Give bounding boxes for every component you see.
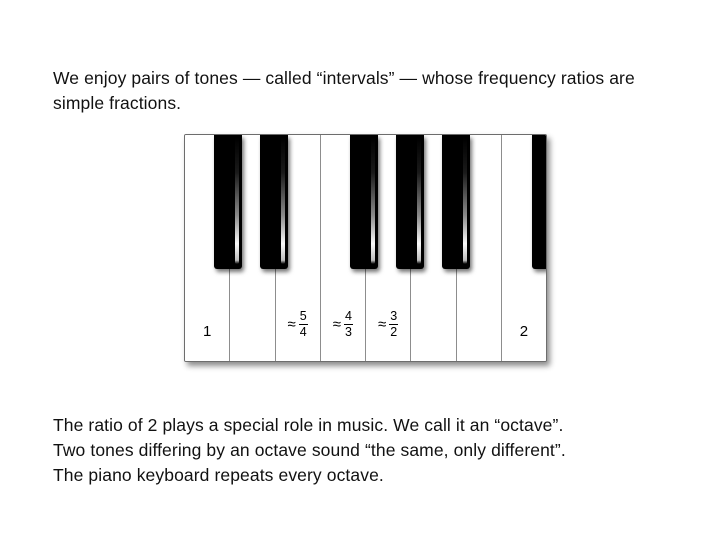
ratio-fraction: 5 4 [299, 310, 308, 339]
white-key-label-text: 2 [520, 324, 528, 339]
black-key[interactable] [442, 135, 470, 269]
black-key[interactable] [350, 135, 378, 269]
outro-paragraph: The ratio of 2 plays a special role in m… [53, 413, 673, 488]
black-key[interactable] [260, 135, 288, 269]
black-key[interactable] [532, 135, 547, 269]
white-key-label-text: 1 [203, 324, 211, 339]
black-key[interactable] [214, 135, 242, 269]
black-key[interactable] [396, 135, 424, 269]
fraction-denominator: 3 [344, 324, 353, 339]
white-key-label: ≈ 3 2 [366, 310, 410, 339]
approximately-equal-sign: ≈ [333, 317, 341, 332]
piano-keyboard-diagram: 1 ≈ 5 4 ≈ [184, 134, 547, 362]
white-key-label: 1 [185, 324, 229, 339]
ratio-fraction: 4 3 [344, 310, 353, 339]
white-key-label: 2 [502, 324, 546, 339]
fraction-numerator: 5 [299, 310, 308, 324]
intro-paragraph: We enjoy pairs of tones — called “interv… [53, 66, 673, 116]
white-key-label: ≈ 5 4 [276, 310, 320, 339]
white-key-label: ≈ 4 3 [321, 310, 365, 339]
approximately-equal-sign: ≈ [378, 317, 386, 332]
slide: We enjoy pairs of tones — called “interv… [0, 0, 725, 544]
fraction-denominator: 4 [299, 324, 308, 339]
ratio-fraction: 3 2 [389, 310, 398, 339]
fraction-numerator: 3 [389, 310, 398, 324]
fraction-numerator: 4 [344, 310, 353, 324]
approximately-equal-sign: ≈ [288, 317, 296, 332]
fraction-denominator: 2 [389, 324, 398, 339]
